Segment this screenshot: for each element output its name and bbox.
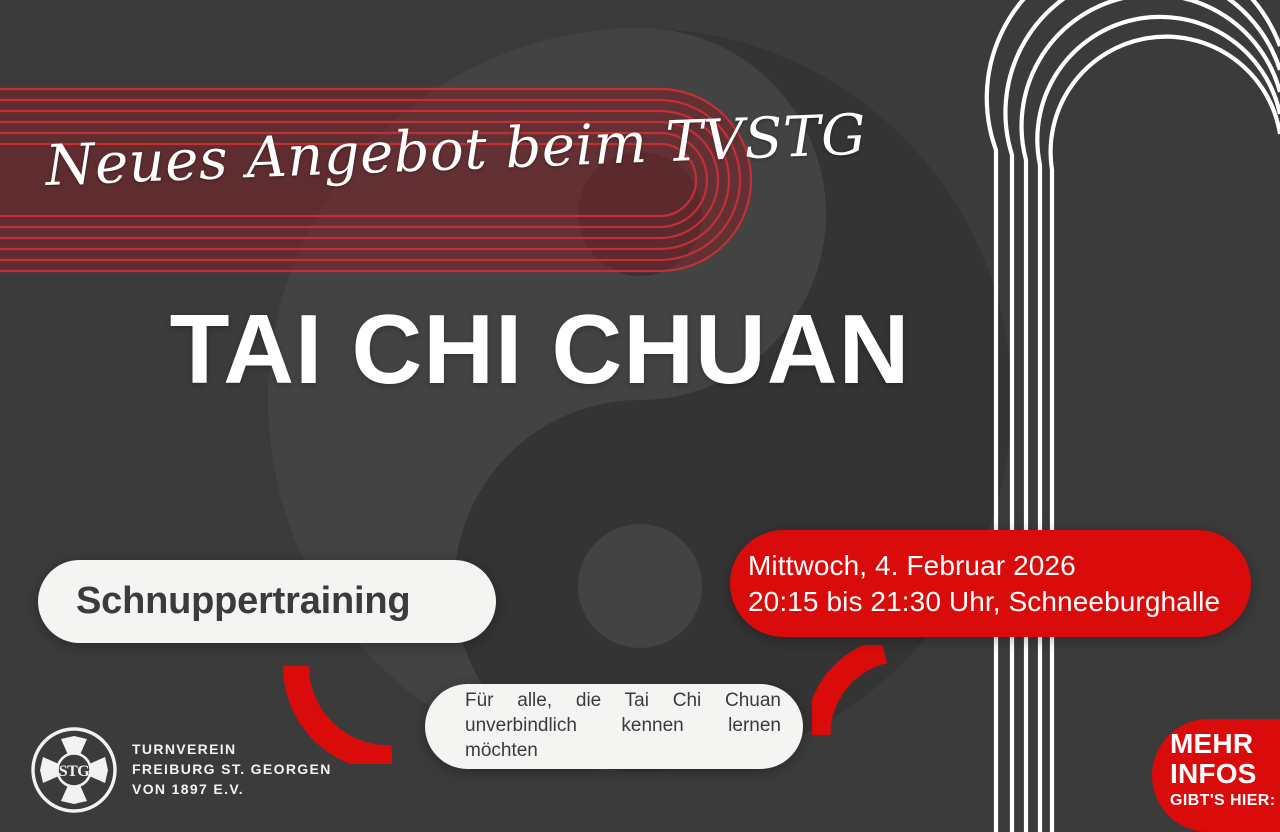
event-date-line: Mittwoch, 4. Februar 2026 xyxy=(748,548,1076,584)
schnuppertraining-label: Schnuppertraining xyxy=(76,580,410,623)
emblem-monogram: STG xyxy=(59,763,91,780)
event-info-badge[interactable]: Für alle, die Tai Chi Chuan unverbindlic… xyxy=(425,684,803,769)
more-info-line-3: GIBT'S HIER: xyxy=(1170,792,1280,810)
poster-canvas: Neues Angebot beim TVSTG TAI CHI CHUAN S… xyxy=(0,0,1280,832)
info-line-2: unverbindlich kennen lernen xyxy=(465,714,781,739)
info-line-1: Für alle, die Tai Chi Chuan xyxy=(465,689,781,714)
more-info-line-1: MEHR xyxy=(1170,729,1280,759)
club-name-block: Turnverein Freiburg St. Georgen von 1897… xyxy=(132,740,332,800)
running-track-white-icon xyxy=(980,0,1280,832)
schnuppertraining-badge[interactable]: Schnuppertraining xyxy=(38,560,496,643)
page-title: TAI CHI CHUAN xyxy=(0,300,1280,398)
club-name-line-2: Freiburg St. Georgen xyxy=(132,760,332,780)
club-name-line-1: Turnverein xyxy=(132,740,332,760)
more-info-badge[interactable]: MEHR INFOS GIBT'S HIER: xyxy=(1152,719,1280,832)
event-date-badge[interactable]: Mittwoch, 4. Februar 2026 20:15 bis 21:3… xyxy=(730,530,1251,637)
event-time-place-line: 20:15 bis 21:30 Uhr, Schneeburghalle xyxy=(748,584,1220,620)
club-logo[interactable]: STG Turnverein Freiburg St. Georgen von … xyxy=(30,726,332,814)
info-line-3: möchten xyxy=(465,739,781,764)
club-name-line-3: von 1897 e.V. xyxy=(132,780,332,800)
red-arc-right-icon xyxy=(812,645,898,743)
stg-club-emblem-icon: STG xyxy=(30,726,118,814)
more-info-line-2: INFOS xyxy=(1170,759,1280,789)
